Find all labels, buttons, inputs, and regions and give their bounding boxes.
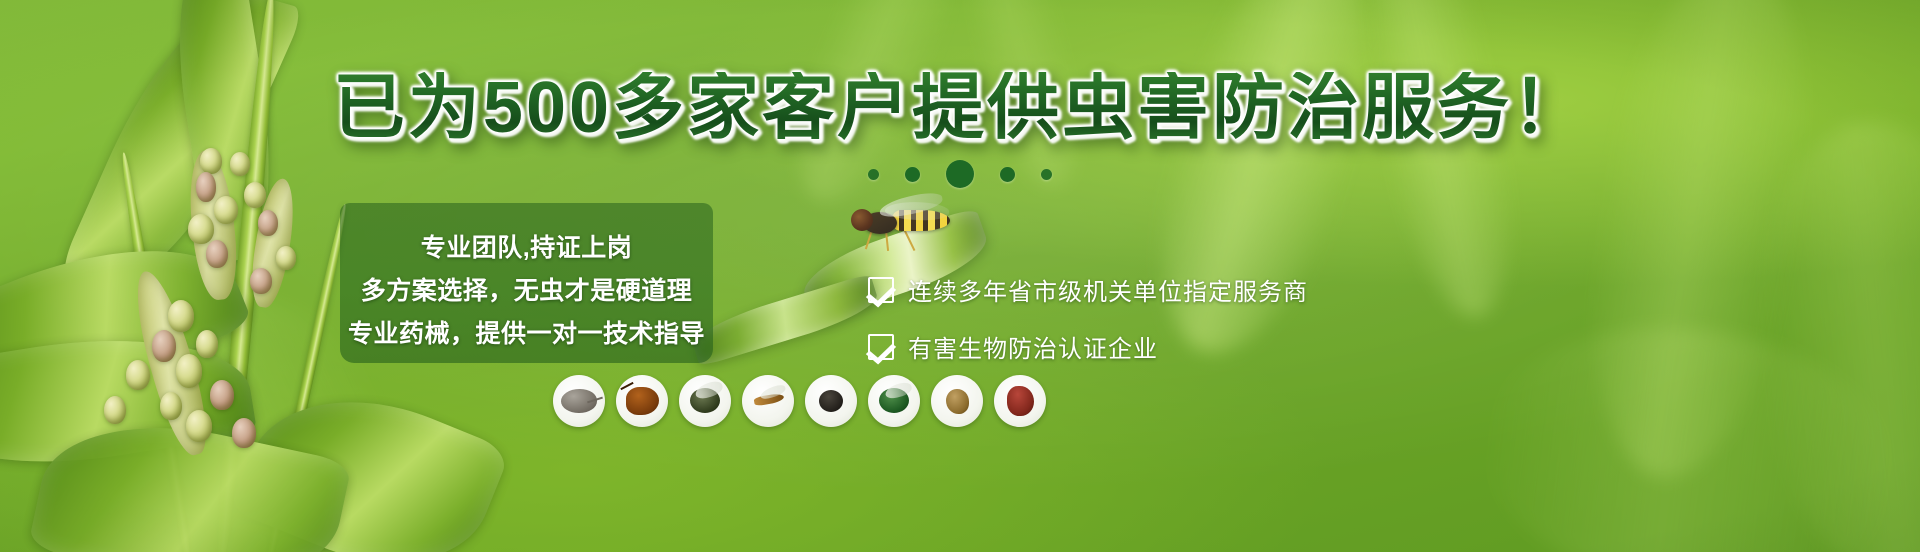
divider-dot <box>905 167 920 182</box>
feature-line-2: 多方案选择，无虫才是硬道理 <box>340 271 713 307</box>
mouse-icon[interactable] <box>553 375 605 427</box>
cockroach-icon[interactable] <box>616 375 668 427</box>
divider-dot <box>1041 169 1052 180</box>
dot-divider <box>0 160 1920 188</box>
feature-line-3: 专业药械，提供一对一技术指导 <box>340 314 713 350</box>
feature-highlight-box: 专业团队,持证上岗 多方案选择，无虫才是硬道理 专业药械，提供一对一技术指导 <box>340 203 713 363</box>
divider-dot <box>868 169 879 180</box>
credentials-checklist: 连续多年省市级机关单位指定服务商 有害生物防治认证企业 <box>868 272 1308 364</box>
checkbox-checked-icon <box>868 334 894 360</box>
checklist-item-label: 有害生物防治认证企业 <box>908 329 1158 364</box>
pest-icon-strip <box>553 375 1046 427</box>
page-title: 已为500多家客户提供虫害防治服务！ <box>0 72 1920 144</box>
checklist-item: 有害生物防治认证企业 <box>868 329 1308 364</box>
housefly-icon[interactable] <box>679 375 731 427</box>
checkbox-checked-icon <box>868 277 894 303</box>
mosquito-icon[interactable] <box>742 375 794 427</box>
feature-line-1: 专业团队,持证上岗 <box>340 228 713 264</box>
promo-banner: 已为500多家客户提供虫害防治服务！ 专业团队,持证上岗 多方案选择，无虫才是硬… <box>0 0 1920 552</box>
bedbug-icon[interactable] <box>994 375 1046 427</box>
divider-dot <box>946 160 974 188</box>
flea-icon[interactable] <box>931 375 983 427</box>
ant-icon[interactable] <box>805 375 857 427</box>
checklist-item: 连续多年省市级机关单位指定服务商 <box>868 272 1308 307</box>
divider-dot <box>1000 167 1015 182</box>
checklist-item-label: 连续多年省市级机关单位指定服务商 <box>908 272 1308 307</box>
greenbottle-fly-icon[interactable] <box>868 375 920 427</box>
